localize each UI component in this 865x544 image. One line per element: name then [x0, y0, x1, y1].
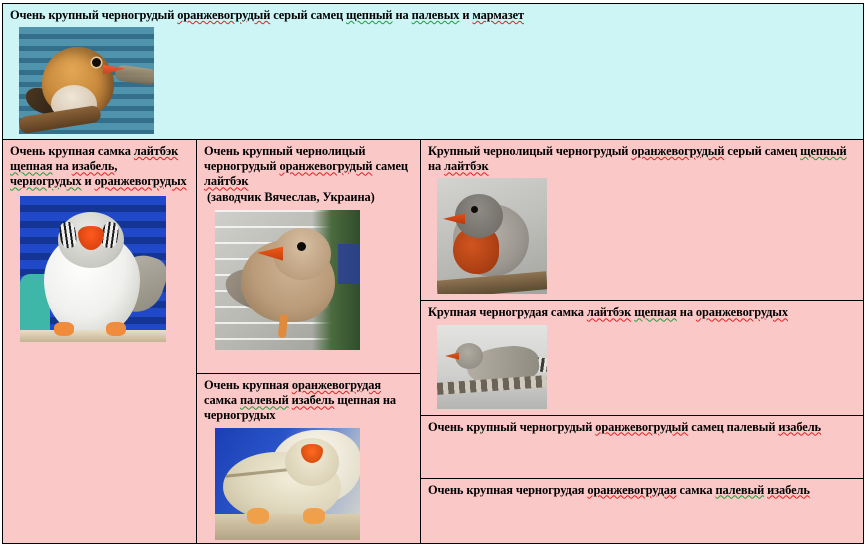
caption-misspelled: оранжевогрудый [279, 159, 372, 173]
caption-misspelled: палевых [412, 8, 460, 22]
caption-misspelled: оранжевогрудых [696, 305, 788, 319]
caption-part: Очень крупная самка [10, 144, 134, 158]
photo-branch [114, 64, 154, 86]
caption-part: на [53, 159, 72, 173]
cell-right-3: Очень крупный черногрудый оранжевогрудый… [421, 415, 863, 478]
caption-misspelled: изабель [778, 420, 821, 434]
caption-part: Крупная черногрудая самка [428, 305, 587, 319]
caption-left-1: Очень крупная самка лайтбэк щепная на из… [10, 144, 191, 189]
caption-mid-1-breeder: (заводчик Вячеслав, Украина) [204, 190, 415, 205]
photo-cream-isabel-pair-on-blue [215, 428, 360, 540]
caption-misspelled: лайтбэк [444, 159, 488, 173]
caption-part: Очень крупный черногрудый [428, 420, 595, 434]
caption-misspelled: оранжевогрудая [292, 378, 381, 392]
caption-misspelled: палевый [715, 483, 764, 497]
photo-bird-eye [297, 242, 306, 251]
table-row: Крупная черногрудая самка лайтбэк щепная… [421, 301, 863, 415]
caption-misspelled: оранжевогрудых [95, 174, 187, 188]
caption-misspelled: оранжевогрудый [177, 8, 270, 22]
caption-part: самец [372, 159, 407, 173]
cell-right-1: Крупный чернолицый черногрудый оранжевог… [421, 140, 863, 301]
caption-part: на [677, 305, 696, 319]
caption-part: серый самец [724, 144, 800, 158]
document-page: Очень крупный черногрудый оранжевогрудый… [0, 3, 865, 535]
caption-misspelled: изабель [292, 393, 335, 407]
caption-misspelled: изабель [72, 159, 115, 173]
caption-misspelled: щепная [10, 159, 53, 173]
caption-misspelled: щепный [800, 144, 846, 158]
caption-part: серый самец [270, 8, 346, 22]
caption-part: на [392, 8, 411, 22]
caption-part: и [82, 174, 95, 188]
caption-misspelled: палевый [240, 393, 289, 407]
table-row: Очень крупный черногрудый оранжевогрудый… [3, 4, 864, 140]
column-middle: Очень крупный чернолицый черногрудый ора… [197, 140, 421, 543]
column-right: Крупный чернолицый черногрудый оранжевог… [421, 140, 864, 543]
cell-left-1: Очень крупная самка лайтбэк щепная на из… [3, 140, 197, 543]
photo-ledge [215, 514, 360, 540]
caption-part: самец палевый [688, 420, 778, 434]
caption-misspelled: лайтбэк [134, 144, 178, 158]
photo-bird-foot-right [106, 322, 126, 336]
caption-part: Очень крупная [204, 378, 292, 392]
caption-mid-2: Очень крупная оранжевогрудая самка палев… [204, 378, 415, 423]
photo-blue-background-patch [338, 244, 360, 284]
caption-misspelled: мармазет [472, 8, 524, 22]
table-row: Очень крупная черногрудая оранжевогрудая… [421, 478, 863, 534]
photo-white-grey-female-front-view [20, 196, 166, 342]
caption-misspelled: лайтбэк [587, 305, 631, 319]
caption-right-2: Крупная черногрудая самка лайтбэк щепная… [428, 305, 858, 320]
caption-misspelled: оранжевогрудый [631, 144, 724, 158]
photo-orange-breasted-male-on-blue-slats [19, 27, 154, 134]
cell-top-banner: Очень крупный черногрудый оранжевогрудый… [3, 4, 864, 140]
birds-table: Очень крупный черногрудый оранжевогрудый… [2, 3, 864, 544]
caption-right-3: Очень крупный черногрудый оранжевогрудый… [428, 420, 858, 435]
caption-part: Очень крупный черногрудый [10, 8, 177, 22]
caption-part: на [428, 159, 444, 173]
caption-part: самка [677, 483, 716, 497]
caption-misspelled: изабель [767, 483, 810, 497]
caption-misspelled: черногрудых [10, 174, 82, 188]
caption-right-1: Крупный чернолицый черногрудый оранжевог… [428, 144, 858, 174]
caption-misspelled: лайтбэк [204, 174, 248, 188]
cell-right-2: Крупная черногрудая самка лайтбэк щепная… [421, 301, 863, 415]
table-row: Очень крупная самка лайтбэк щепная на из… [3, 140, 864, 543]
table-row: Очень крупный чернолицый черногрудый ора… [197, 140, 420, 374]
photo-ledge [20, 330, 166, 342]
caption-mid-1: Очень крупный чернолицый черногрудый ора… [204, 144, 415, 189]
right-subtable: Крупный чернолицый черногрудый оранжевог… [421, 140, 863, 534]
caption-part: Очень крупная черногрудая [428, 483, 587, 497]
table-row: Очень крупная оранжевогрудая самка палев… [197, 374, 420, 543]
caption-part: Крупный чернолицый черногрудый [428, 144, 631, 158]
caption-right-4: Очень крупная черногрудая оранжевогрудая… [428, 483, 858, 498]
photo-bird-foot-left [54, 322, 74, 336]
photo-perch [437, 272, 547, 295]
caption-misspelled: щепная [634, 305, 677, 319]
photo-fawn-male-on-cage-with-conifer [215, 210, 360, 350]
photo-bird-beak [443, 212, 465, 225]
caption-misspelled: щепный [346, 8, 392, 22]
middle-subtable: Очень крупный чернолицый черногрудый ора… [197, 140, 420, 542]
caption-top-banner: Очень крупный черногрудый оранжевогрудый… [10, 8, 858, 23]
photo-bird-head [455, 343, 483, 369]
cell-right-4: Очень крупная черногрудая оранжевогрудая… [421, 478, 863, 534]
caption-part: , [114, 159, 117, 173]
cell-mid-1: Очень крупный чернолицый черногрудый ора… [197, 140, 420, 374]
table-row: Очень крупный черногрудый оранжевогрудый… [421, 415, 863, 478]
photo-grey-male-orange-breast [437, 178, 547, 294]
table-row: Крупный чернолицый черногрудый оранжевог… [421, 140, 863, 301]
caption-part: самка [204, 393, 240, 407]
caption-misspelled: оранжевогрудый [595, 420, 688, 434]
caption-part: и [459, 8, 472, 22]
cell-mid-2: Очень крупная оранжевогрудая самка палев… [197, 374, 420, 543]
photo-grey-female-perched [437, 325, 547, 409]
photo-bird-foot-left [247, 508, 269, 524]
caption-misspelled: оранжевогрудая [587, 483, 676, 497]
photo-bird-foot-right [303, 508, 325, 524]
